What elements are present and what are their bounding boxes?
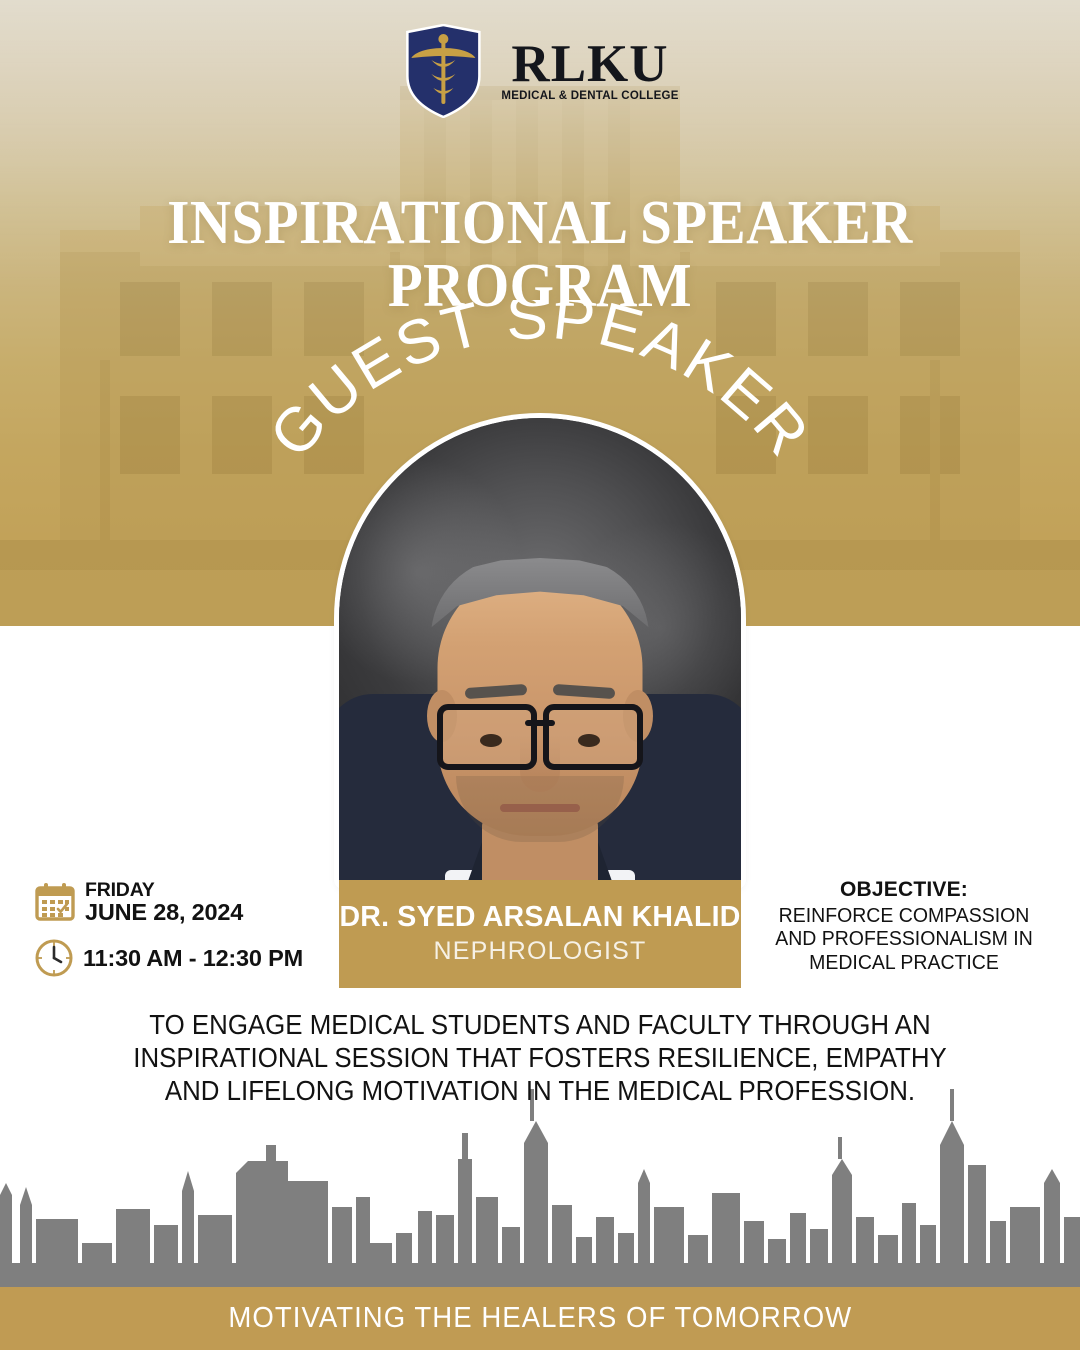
event-time: 11:30 AM - 12:30 PM bbox=[83, 945, 303, 972]
objective-heading: OBJECTIVE: bbox=[748, 878, 1060, 902]
brand-tagline: MEDICAL & DENTAL COLLEGE bbox=[501, 90, 678, 102]
event-description: TO ENGAGE MEDICAL STUDENTS AND FACULTY T… bbox=[32, 1008, 1047, 1107]
description-line-2: INSPIRATIONAL SESSION THAT FOSTERS RESIL… bbox=[32, 1041, 1047, 1074]
poster-canvas: RLKU MEDICAL & DENTAL COLLEGE INSPIRATIO… bbox=[0, 0, 1080, 1350]
event-date-row: FRIDAY JUNE 28, 2024 bbox=[34, 880, 334, 924]
eyeglasses-icon bbox=[433, 700, 647, 762]
brand-logo: RLKU MEDICAL & DENTAL COLLEGE bbox=[401, 24, 678, 118]
event-date: JUNE 28, 2024 bbox=[85, 900, 243, 924]
speaker-name: DR. SYED ARSALAN KHALID bbox=[340, 902, 741, 933]
page-title: INSPIRATIONAL SPEAKER PROGRAM bbox=[43, 192, 1037, 318]
title-line-2: PROGRAM bbox=[43, 255, 1037, 318]
speaker-portrait bbox=[339, 418, 741, 884]
speaker-role: NEPHROLOGIST bbox=[433, 937, 646, 966]
speaker-name-band: DR. SYED ARSALAN KHALID NEPHROLOGIST bbox=[339, 880, 741, 988]
footer-tagline: MOTIVATING THE HEALERS OF TOMORROW bbox=[228, 1302, 852, 1335]
description-line-1: TO ENGAGE MEDICAL STUDENTS AND FACULTY T… bbox=[32, 1008, 1047, 1041]
event-day: FRIDAY bbox=[85, 880, 243, 900]
footer-band: MOTIVATING THE HEALERS OF TOMORROW bbox=[0, 1287, 1080, 1350]
event-time-row: 11:30 AM - 12:30 PM bbox=[34, 938, 334, 978]
description-line-3: AND LIFELONG MOTIVATION IN THE MEDICAL P… bbox=[32, 1074, 1047, 1107]
title-line-1: INSPIRATIONAL SPEAKER bbox=[167, 189, 913, 257]
objective-line-3: MEDICAL PRACTICE bbox=[756, 951, 1052, 974]
city-skyline-silhouette bbox=[0, 1087, 1080, 1287]
calendar-icon bbox=[34, 881, 76, 923]
objective-line-1: REINFORCE COMPASSION bbox=[756, 904, 1052, 927]
objective-line-2: AND PROFESSIONALISM IN bbox=[756, 927, 1052, 950]
brand-name: RLKU bbox=[511, 40, 668, 89]
objective-block: OBJECTIVE: REINFORCE COMPASSION AND PROF… bbox=[748, 878, 1060, 974]
event-schedule: FRIDAY JUNE 28, 2024 11:30 AM - 12:30 PM bbox=[34, 880, 334, 978]
mouth bbox=[500, 804, 580, 812]
clock-icon bbox=[34, 938, 74, 978]
caduceus-shield-icon bbox=[401, 24, 485, 118]
